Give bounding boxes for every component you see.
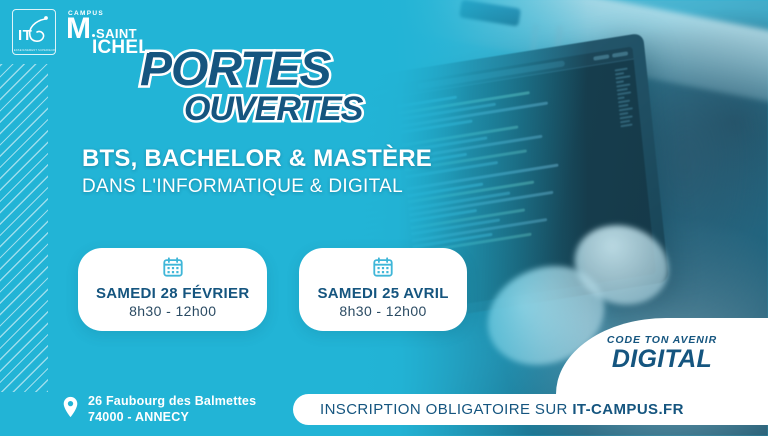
location-pin-icon bbox=[62, 396, 79, 423]
date-card[interactable]: SAMEDI 25 AVRIL 8h30 - 12h00 bbox=[299, 248, 466, 331]
tagline-line-2: DIGITAL bbox=[556, 347, 768, 372]
saint-michel-logo: CAMPUS M SAINT ICHEL bbox=[66, 9, 150, 55]
date-card-time: 8h30 - 12h00 bbox=[317, 303, 448, 319]
address-line-1: 26 Faubourg des Balmettes bbox=[88, 394, 256, 410]
date-card-title: SAMEDI 28 FÉVRIER bbox=[96, 285, 249, 302]
registration-cta-text: INSCRIPTION OBLIGATOIRE SUR IT-CAMPUS.FR bbox=[320, 401, 684, 418]
calendar-icon bbox=[96, 256, 249, 283]
headline-line-1: PORTES bbox=[140, 48, 362, 92]
address-block: 26 Faubourg des Balmettes 74000 - ANNECY bbox=[62, 394, 256, 425]
saint-michel-michel-text: ICHEL bbox=[92, 40, 150, 55]
headline: PORTES OUVERTES bbox=[96, 48, 362, 125]
date-card-time: 8h30 - 12h00 bbox=[96, 303, 249, 319]
open-house-poster: IT ENSEIGNEMENT SUPERIEUR CAMPUS M SAINT… bbox=[0, 0, 768, 436]
date-card[interactable]: SAMEDI 28 FÉVRIER 8h30 - 12h00 bbox=[78, 248, 267, 331]
subtitle-line-2: DANS L'INFORMATIQUE & DIGITAL bbox=[82, 176, 432, 198]
address-text: 26 Faubourg des Balmettes 74000 - ANNECY bbox=[88, 394, 256, 425]
registration-cta-prefix: INSCRIPTION OBLIGATOIRE SUR bbox=[320, 401, 572, 418]
it-logo-subtitle: ENSEIGNEMENT SUPERIEUR bbox=[14, 49, 54, 52]
subtitle: BTS, BACHELOR & MASTÈRE DANS L'INFORMATI… bbox=[82, 145, 432, 198]
headline-line-2: OUVERTES bbox=[184, 94, 362, 125]
it-campus-logo: IT ENSEIGNEMENT SUPERIEUR bbox=[12, 9, 56, 55]
calendar-icon bbox=[317, 256, 448, 283]
date-card-title: SAMEDI 25 AVRIL bbox=[317, 285, 448, 302]
date-cards: SAMEDI 28 FÉVRIER 8h30 - 12h00 SAMEDI 25… bbox=[78, 248, 467, 331]
registration-cta-bar[interactable]: INSCRIPTION OBLIGATOIRE SUR IT-CAMPUS.FR bbox=[293, 394, 768, 425]
address-line-2: 74000 - ANNECY bbox=[88, 410, 256, 426]
logo-group: IT ENSEIGNEMENT SUPERIEUR CAMPUS M SAINT… bbox=[12, 9, 150, 55]
saint-michel-initial: M bbox=[66, 17, 91, 42]
registration-website[interactable]: IT-CAMPUS.FR bbox=[572, 401, 683, 418]
bottom-bar: 26 Faubourg des Balmettes 74000 - ANNECY… bbox=[0, 390, 768, 436]
diagonal-stripes-decoration bbox=[0, 64, 48, 392]
it-swirl-icon bbox=[25, 15, 51, 50]
subtitle-line-1: BTS, BACHELOR & MASTÈRE bbox=[82, 145, 432, 173]
